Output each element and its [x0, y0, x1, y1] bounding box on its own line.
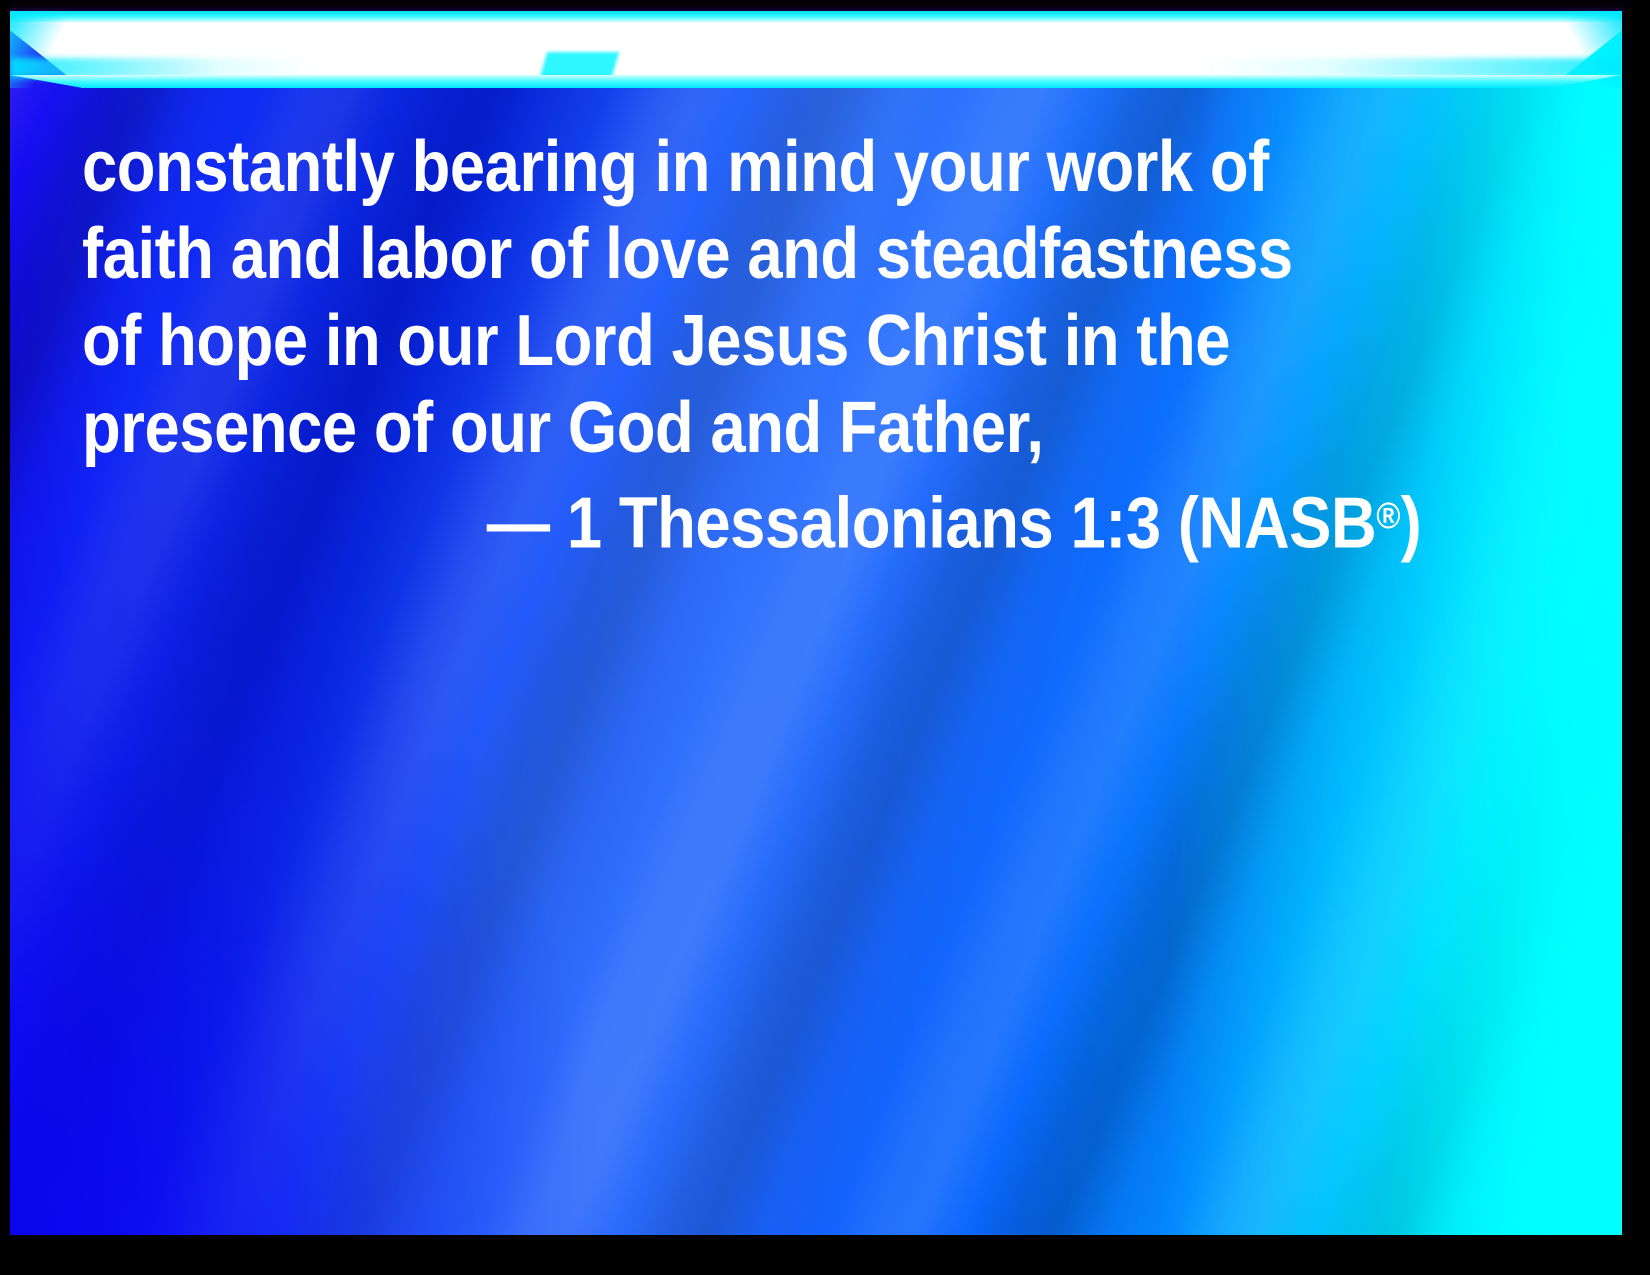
citation-reference: 1 Thessalonians 1:3 (NASB	[567, 483, 1376, 563]
verse-line-4: presence of our God and Father,	[82, 385, 1376, 472]
banner-cyan-wash-right	[1202, 58, 1622, 78]
top-dark-edge	[0, 0, 1650, 11]
scripture-slide: constantly bearing in mind your work of …	[0, 0, 1650, 1275]
frame-bottom-border	[0, 1235, 1650, 1275]
verse-citation: — 1 Thessalonians 1:3 (NASB®)	[82, 472, 1376, 567]
banner-cyan-bottom-edge	[10, 75, 1622, 88]
banner-cyan-top-edge	[10, 10, 1622, 22]
registered-trademark-icon: ®	[1376, 494, 1400, 536]
top-highlight-banner	[10, 10, 1622, 88]
frame-left-border	[0, 0, 10, 1275]
frame-right-border	[1622, 0, 1650, 1275]
banner-white-core	[10, 10, 1622, 88]
banner-left-bevel	[10, 10, 72, 88]
verse-text-block: constantly bearing in mind your work of …	[82, 124, 1552, 567]
banner-cyan-wash-left	[10, 58, 310, 78]
banner-right-bevel	[1560, 10, 1622, 88]
verse-line-1: constantly bearing in mind your work of	[82, 124, 1376, 211]
citation-closing-paren: )	[1401, 483, 1422, 563]
citation-em-dash: —	[487, 483, 567, 563]
verse-line-3: of hope in our Lord Jesus Christ in the	[82, 298, 1376, 385]
banner-cyan-notch	[537, 52, 619, 88]
verse-line-2: faith and labor of love and steadfastnes…	[82, 211, 1376, 298]
